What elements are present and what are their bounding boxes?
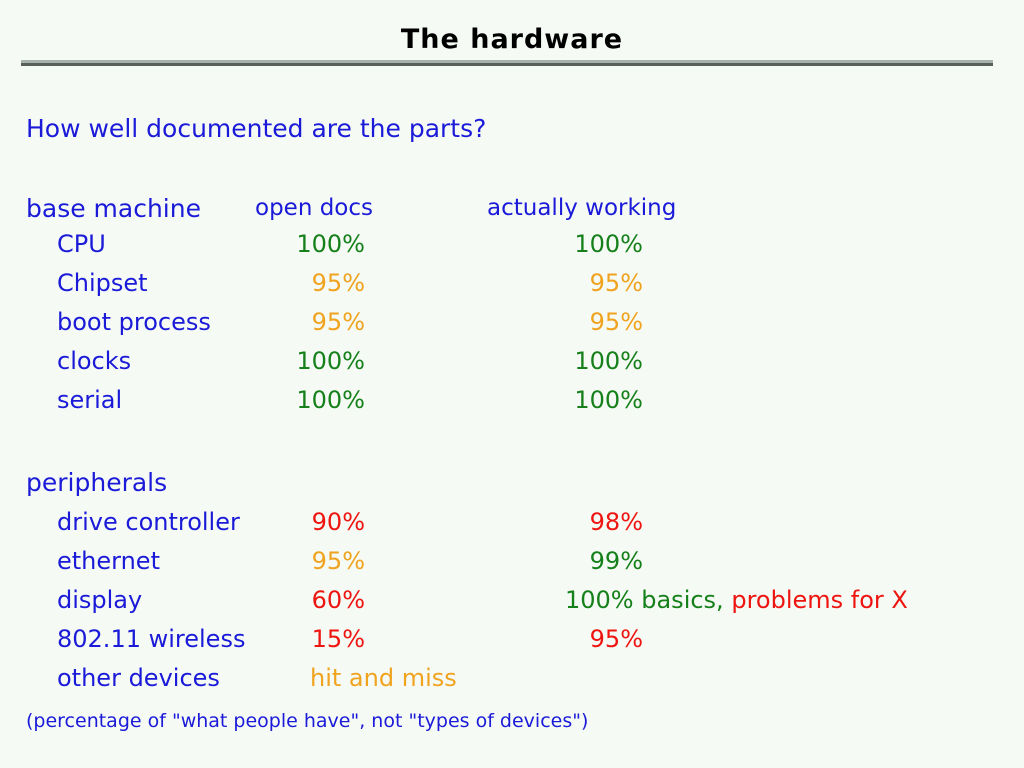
row-label-clocks: clocks	[57, 349, 131, 373]
column-header-actually-working: actually working	[487, 197, 676, 220]
row-open-docs-display: 60%	[185, 588, 365, 612]
row-working-drive-controller: 98%	[460, 510, 643, 534]
row-label-ethernet: ethernet	[57, 549, 160, 573]
row-open-docs-802-11-wireless: 15%	[185, 627, 365, 651]
row-working-display-basics: 100% basics,	[565, 586, 724, 614]
column-header-open-docs: open docs	[255, 197, 373, 220]
footnote-text: (percentage of "what people have", not "…	[26, 712, 588, 731]
row-working-802-11-wireless: 95%	[460, 627, 643, 651]
section-header-peripherals: peripherals	[26, 470, 167, 495]
row-working-display-problems: problems for X	[731, 586, 908, 614]
row-label-serial: serial	[57, 388, 122, 412]
row-open-docs-chipset: 95%	[185, 271, 365, 295]
slide-body: How well documented are the parts? base …	[0, 0, 1024, 768]
row-label-chipset: Chipset	[57, 271, 148, 295]
row-label-cpu: CPU	[57, 232, 106, 256]
row-working-chipset: 95%	[460, 271, 643, 295]
row-working-clocks: 100%	[460, 349, 643, 373]
row-working-cpu: 100%	[460, 232, 643, 256]
row-open-docs-ethernet: 95%	[185, 549, 365, 573]
slide: The hardware How well documented are the…	[0, 0, 1024, 768]
row-working-ethernet: 99%	[460, 549, 643, 573]
row-working-boot-process: 95%	[460, 310, 643, 334]
row-open-docs-boot-process: 95%	[185, 310, 365, 334]
row-open-docs-other-devices: hit and miss	[310, 666, 457, 690]
row-label-display: display	[57, 588, 142, 612]
row-open-docs-cpu: 100%	[185, 232, 365, 256]
row-open-docs-serial: 100%	[185, 388, 365, 412]
section-header-base-machine: base machine	[26, 196, 201, 221]
question-text: How well documented are the parts?	[26, 116, 486, 141]
row-working-serial: 100%	[460, 388, 643, 412]
row-open-docs-clocks: 100%	[185, 349, 365, 373]
row-label-other-devices: other devices	[57, 666, 220, 690]
row-open-docs-drive-controller: 90%	[185, 510, 365, 534]
row-working-display: 100% basics, problems for X	[565, 588, 908, 612]
